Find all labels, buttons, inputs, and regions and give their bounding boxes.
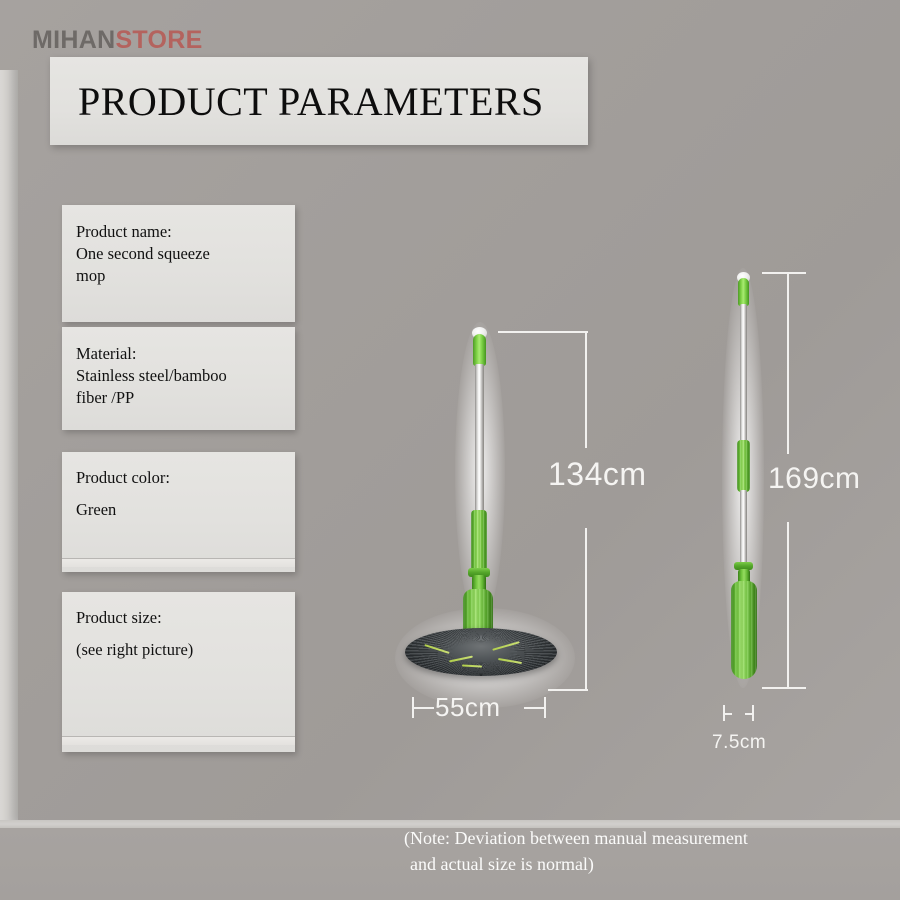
dim-tick-top-169 [762, 272, 806, 274]
handle-mid-grip [737, 440, 750, 492]
spec-value-line1: Green [76, 500, 281, 521]
mop-top-cap [473, 334, 486, 366]
spec-value-line1: One second squeeze [76, 243, 281, 265]
dimension-label-width-right: 7.5cm [712, 732, 766, 754]
dim-line-lower-134 [585, 528, 587, 690]
handle-top-cap [738, 278, 749, 306]
brand-logo-part1: MIHAN [32, 26, 115, 54]
dim-cap-left-75 [723, 705, 725, 721]
spec-value-line1: (see right picture) [76, 640, 281, 661]
spec-value-line2: fiber /PP [76, 387, 281, 409]
dim-cap-right-55 [544, 697, 546, 718]
dim-cap-left-55 [412, 697, 414, 718]
dimension-label-height-right: 169cm [768, 462, 861, 496]
brand-logo-part2: STORE [115, 26, 202, 54]
footer-note-line2: and actual size is normal) [404, 852, 884, 878]
handle-body [731, 581, 757, 679]
handle-upper-pole [740, 304, 747, 444]
card-divider-strip [62, 559, 295, 567]
dim-tick-bottom-134 [548, 689, 588, 691]
spec-label: Material: [76, 343, 281, 365]
dim-cap-right-75 [752, 705, 754, 721]
dim-tick-bottom-169 [762, 687, 806, 689]
dimension-label-width-left: 55cm [435, 692, 501, 723]
spec-card-product-color: Product color: Green [62, 452, 295, 572]
spec-value-line1: Stainless steel/bamboo [76, 365, 281, 387]
brand-logo: MIHANSTORE [32, 26, 203, 55]
spec-card-product-name: Product name: One second squeeze mop [62, 205, 295, 322]
dim-line-lower-169 [787, 522, 789, 688]
page-title: PRODUCT PARAMETERS [78, 78, 544, 125]
spec-label: Product color: [76, 468, 281, 489]
spec-label: Product size: [76, 608, 281, 629]
spec-card-product-size: Product size: (see right picture) [62, 592, 295, 752]
dim-line-upper-134 [585, 331, 587, 448]
handle-lower-pole [740, 490, 747, 566]
dim-tick-top-134 [498, 331, 588, 333]
spec-label: Product name: [76, 221, 281, 243]
dim-tick-right-55 [524, 707, 546, 709]
footer-note: (Note: Deviation between manual measurem… [404, 826, 884, 877]
dim-tick-left-55 [412, 707, 434, 709]
spec-value-line2: mop [76, 265, 281, 287]
mop-head-fringe [405, 628, 557, 676]
spec-card-material: Material: Stainless steel/bamboo fiber /… [62, 327, 295, 430]
footer-note-line1: (Note: Deviation between manual measurem… [404, 826, 884, 852]
page-title-banner: PRODUCT PARAMETERS [50, 57, 588, 145]
dimension-label-height-left: 134cm [548, 456, 647, 493]
product-parameters-infographic: MIHANSTORE PRODUCT PARAMETERS Product na… [0, 0, 900, 900]
mop-mid-grip [471, 510, 487, 572]
dim-line-upper-169 [787, 272, 789, 454]
card-divider-strip [62, 737, 295, 745]
